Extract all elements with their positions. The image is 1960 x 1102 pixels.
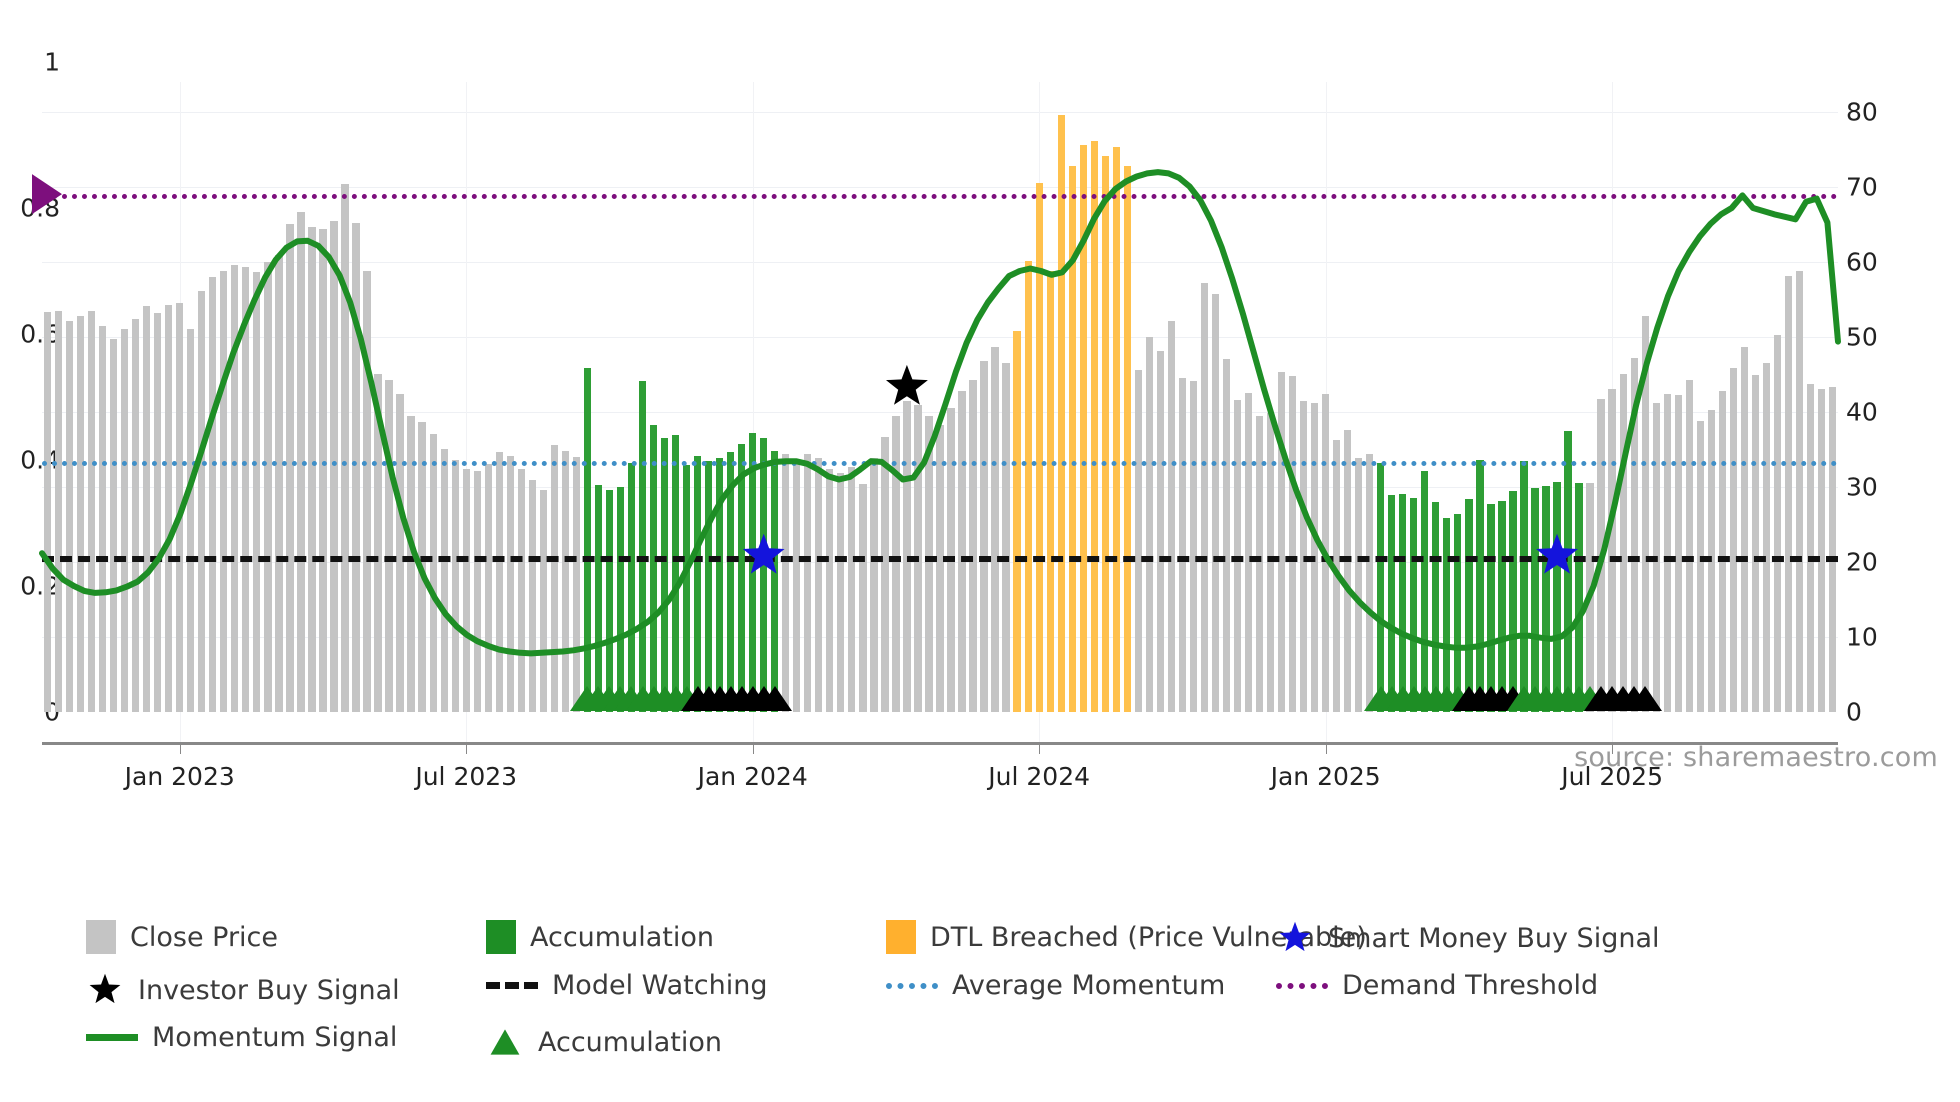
x-gridline-stub — [753, 712, 754, 742]
y-tick-right: 50 — [1846, 325, 1878, 350]
investor-buy-signal-star — [886, 365, 928, 405]
x-tick — [753, 742, 754, 754]
chart-legend: Close PriceAccumulationDTL Breached (Pri… — [86, 920, 1946, 1076]
x-tick-label: Jan 2023 — [125, 762, 235, 791]
legend-row: Momentum SignalAccumulation — [86, 1024, 1946, 1068]
legend-triangle-icon — [486, 1024, 524, 1060]
x-tick — [1039, 742, 1040, 754]
x-gridline-stub — [1612, 712, 1613, 742]
signal-markers — [42, 82, 1838, 712]
x-gridline-stub — [180, 712, 181, 742]
x-tick-label: Jan 2024 — [698, 762, 808, 791]
legend-dashed-line-icon — [486, 982, 538, 989]
legend-item-label: Smart Money Buy Signal — [1328, 925, 1660, 952]
legend-square-icon — [86, 920, 116, 954]
legend-dotted-line-icon — [1276, 983, 1328, 989]
x-gridline-stub — [1039, 712, 1040, 742]
y-tick-right: 30 — [1846, 475, 1878, 500]
smart-money-buy-signal-star — [1536, 534, 1578, 574]
legend-item-label: Model Watching — [552, 972, 767, 999]
y-axis-right: 01020304050607080 — [1846, 82, 1906, 712]
legend-item-label: Demand Threshold — [1342, 972, 1598, 999]
legend-item-label: Average Momentum — [952, 972, 1225, 999]
legend-item[interactable]: Average Momentum — [886, 972, 1225, 999]
x-tick-label: Jul 2023 — [415, 762, 517, 791]
x-tick — [466, 742, 467, 754]
legend-line-icon — [86, 1034, 138, 1041]
legend-item[interactable]: Model Watching — [486, 972, 767, 999]
legend-item[interactable]: Accumulation — [486, 920, 714, 954]
y-tick-right: 80 — [1846, 100, 1878, 125]
smart-money-buy-signal-star — [743, 534, 785, 574]
accumulation-triangle-row — [42, 671, 1838, 711]
x-tick — [1326, 742, 1327, 754]
x-tick-label: Jul 2024 — [988, 762, 1090, 791]
y-tick-right: 60 — [1846, 250, 1878, 275]
legend-square-icon — [486, 920, 516, 954]
legend-item[interactable]: Close Price — [86, 920, 278, 954]
accumulation-triangle-marker — [758, 686, 792, 711]
y-tick-right: 70 — [1846, 175, 1878, 200]
legend-item-label: Accumulation — [538, 1029, 722, 1056]
legend-item-label: Momentum Signal — [152, 1024, 397, 1051]
demand-threshold-marker — [32, 174, 62, 214]
accumulation-triangle-marker — [1628, 686, 1662, 711]
legend-row: Investor Buy SignalModel WatchingAverage… — [86, 972, 1946, 1016]
legend-star-icon — [1276, 920, 1314, 956]
y-tick-right: 40 — [1846, 400, 1878, 425]
x-tick-label: Jan 2025 — [1271, 762, 1381, 791]
source-attribution: source: sharemaestro.com — [1574, 742, 1938, 773]
y-tick-right: 20 — [1846, 550, 1878, 575]
legend-item[interactable]: Accumulation — [486, 1024, 722, 1060]
x-axis-line — [42, 742, 1838, 745]
legend-star-icon — [86, 972, 124, 1008]
x-gridline-stub — [466, 712, 467, 742]
legend-item[interactable]: Investor Buy Signal — [86, 972, 400, 1008]
y-tick-right: 10 — [1846, 625, 1878, 650]
legend-dotted-line-icon — [886, 983, 938, 989]
legend-row: Close PriceAccumulationDTL Breached (Pri… — [86, 920, 1946, 964]
chart-root: 00.20.40.60.81 01020304050607080 Jan 202… — [0, 0, 1960, 1102]
legend-item-label: Accumulation — [530, 924, 714, 951]
plot-area — [42, 82, 1838, 712]
legend-item-label: Close Price — [130, 924, 278, 951]
legend-item[interactable]: Momentum Signal — [86, 1024, 397, 1051]
legend-square-icon — [886, 920, 916, 954]
y-tick-right: 0 — [1846, 700, 1862, 725]
y-tick-left: 1 — [44, 50, 60, 75]
x-gridline-stub — [1326, 712, 1327, 742]
legend-item[interactable]: Smart Money Buy Signal — [1276, 920, 1660, 956]
x-tick — [180, 742, 181, 754]
legend-item[interactable]: Demand Threshold — [1276, 972, 1598, 999]
legend-item-label: Investor Buy Signal — [138, 977, 400, 1004]
